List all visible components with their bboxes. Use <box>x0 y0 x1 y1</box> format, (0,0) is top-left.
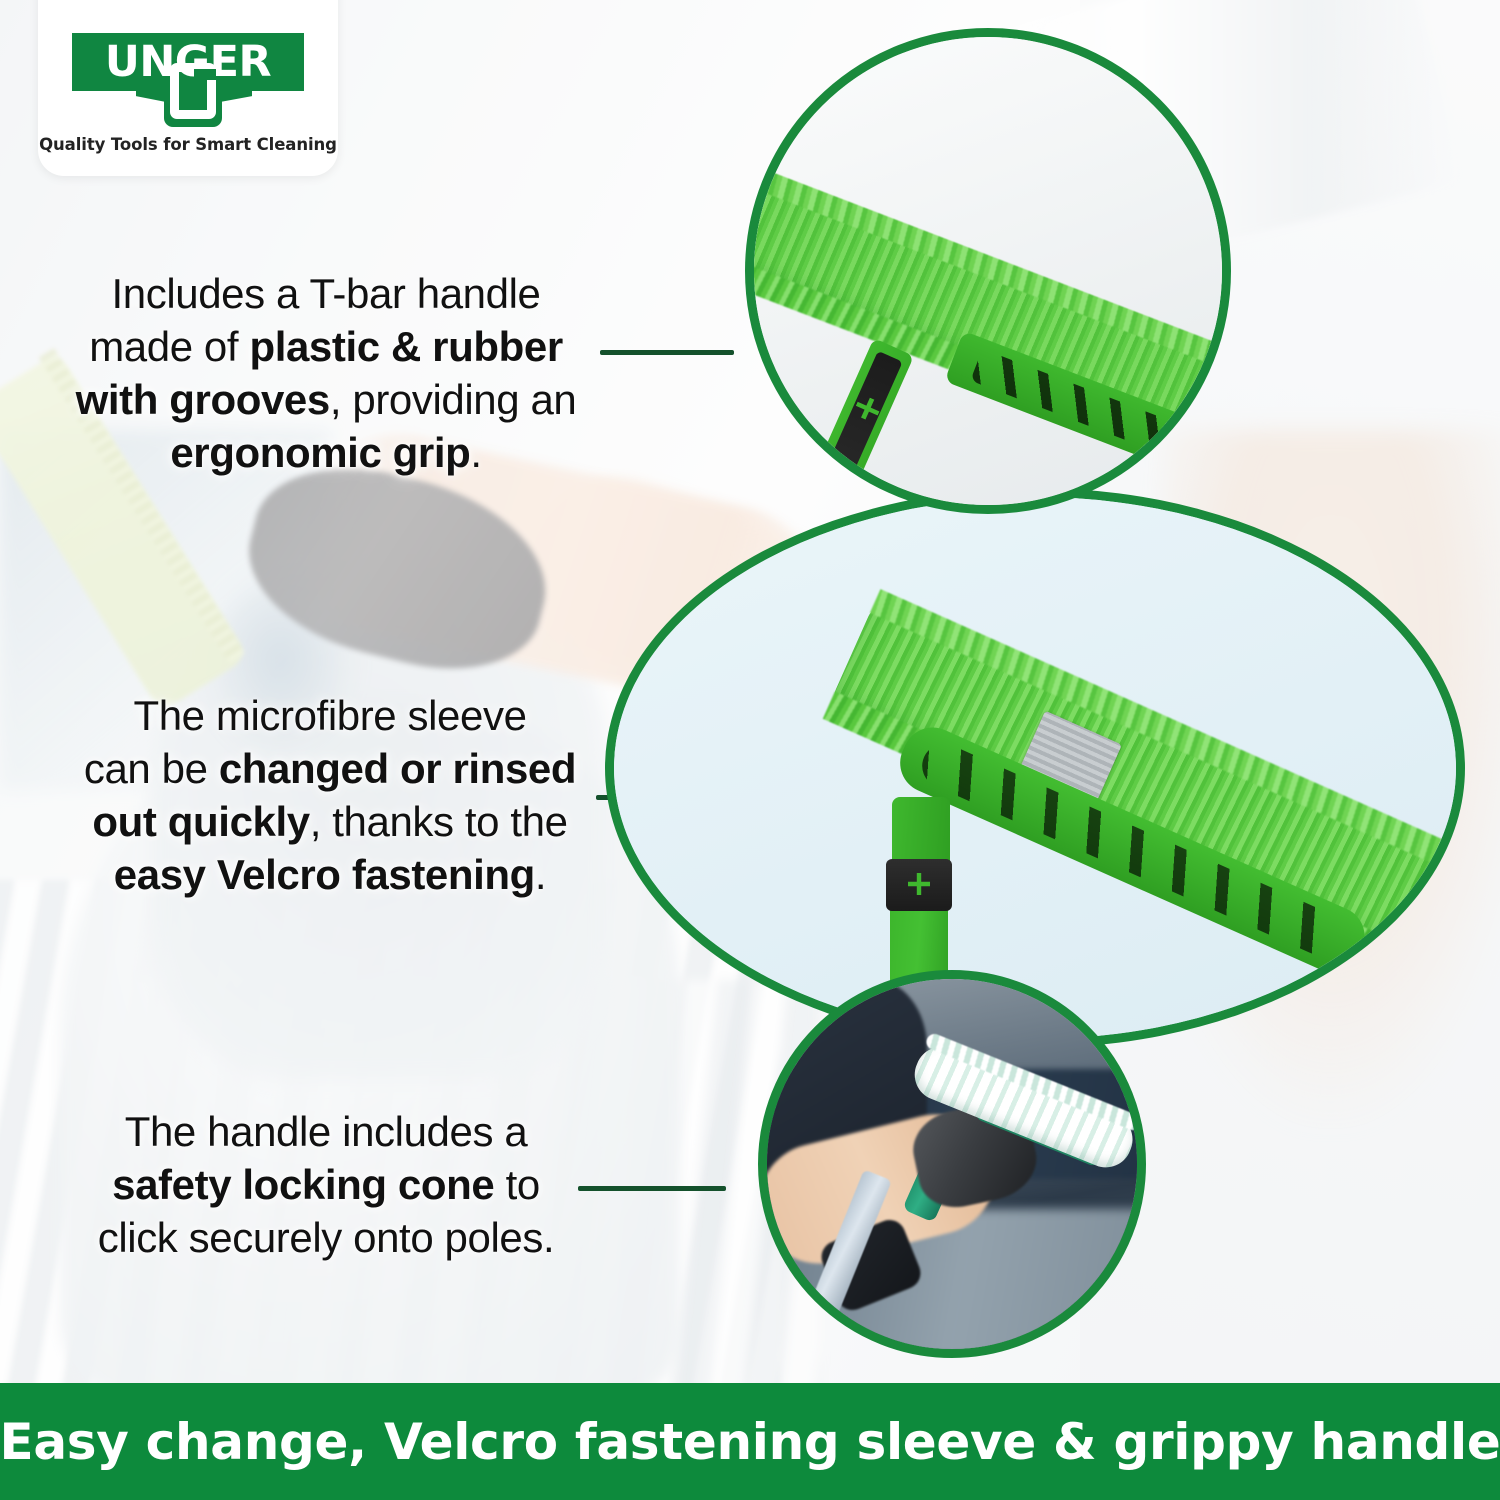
bottom-banner: Easy change, Velcro fastening sleeve & g… <box>0 1383 1500 1500</box>
feature-text-locking-cone: The handle includes asafety locking cone… <box>46 1106 606 1265</box>
callout-circle-pole-lock <box>758 970 1146 1358</box>
connector-line-1 <box>600 350 734 355</box>
registered-trademark-icon: ® <box>287 104 298 117</box>
connector-line-3 <box>578 1186 726 1191</box>
callout-circle-sleeve-velcro <box>605 488 1465 1048</box>
banner-headline: Easy change, Velcro fastening sleeve & g… <box>0 1413 1500 1471</box>
unger-logo-card: UNGER ® Quality Tools for Smart Cleaning <box>38 0 338 176</box>
feature-text-tbar-handle: Includes a T-bar handlemade of plastic &… <box>46 268 606 480</box>
infographic-stage: UNGER ® Quality Tools for Smart Cleaning… <box>0 0 1500 1500</box>
logo-g-notch <box>194 69 216 80</box>
unger-logo-mark: UNGER ® <box>72 33 304 125</box>
brand-tagline: Quality Tools for Smart Cleaning <box>39 135 337 154</box>
safety-locking-cone-collar <box>886 859 952 911</box>
feature-text-microfibre-sleeve: The microfibre sleevecan be changed or r… <box>40 690 620 902</box>
callout-circle-tbar-grip <box>745 28 1231 514</box>
